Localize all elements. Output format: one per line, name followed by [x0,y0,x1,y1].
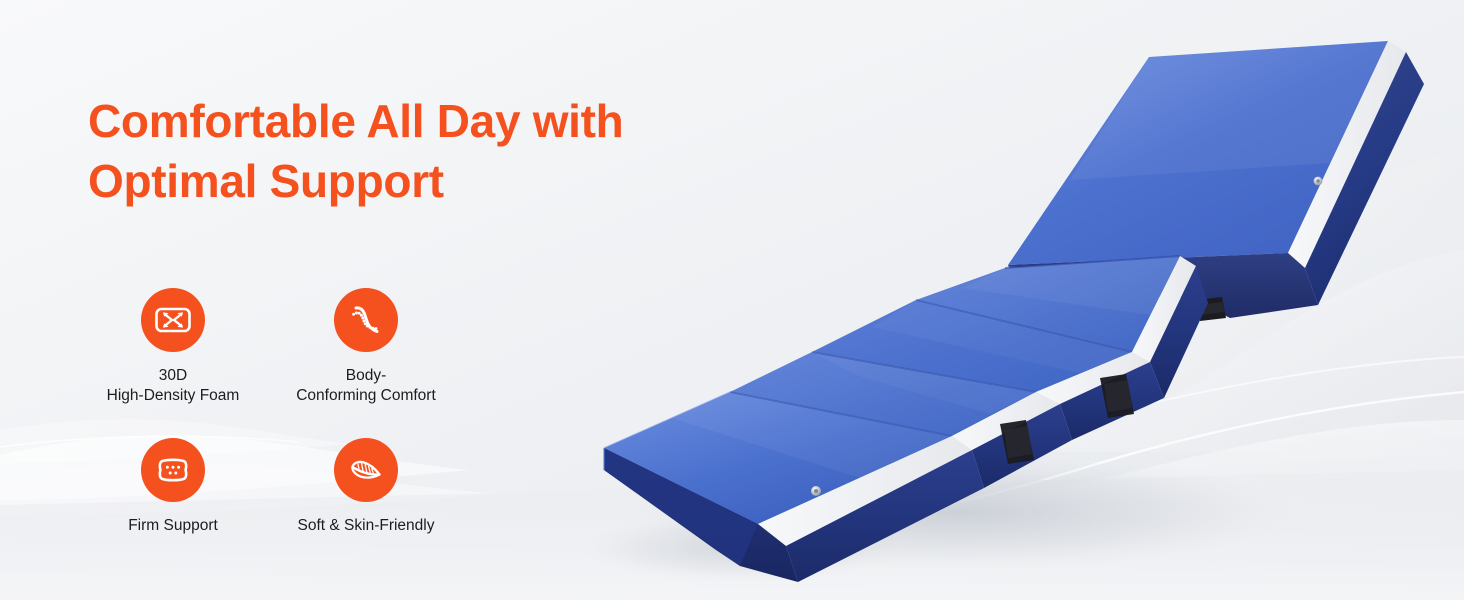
feather-icon [334,438,398,502]
feature-label: Body- Conforming Comfort [296,366,436,406]
feature-item-firm-support[interactable]: Firm Support [98,438,248,588]
feature-item-soft-skin-friendly[interactable]: Soft & Skin-Friendly [266,438,466,588]
page-title: Comfortable All Day with Optimal Support [88,92,708,212]
product-feature-banner: Comfortable All Day with Optimal Support [0,0,1464,600]
feature-label: Soft & Skin-Friendly [298,516,435,536]
feature-list: 30D High-Density Foam [98,288,518,588]
feature-label: 30D High-Density Foam [107,366,240,406]
body-contour-curve-icon [334,288,398,352]
cushion-dots-icon [141,438,205,502]
expand-arrows-icon [141,288,205,352]
headline-block: Comfortable All Day with Optimal Support [88,92,708,212]
feature-item-body-conforming[interactable]: Body- Conforming Comfort [266,288,466,438]
feature-item-high-density-foam[interactable]: 30D High-Density Foam [98,288,248,438]
feature-label: Firm Support [128,516,218,536]
